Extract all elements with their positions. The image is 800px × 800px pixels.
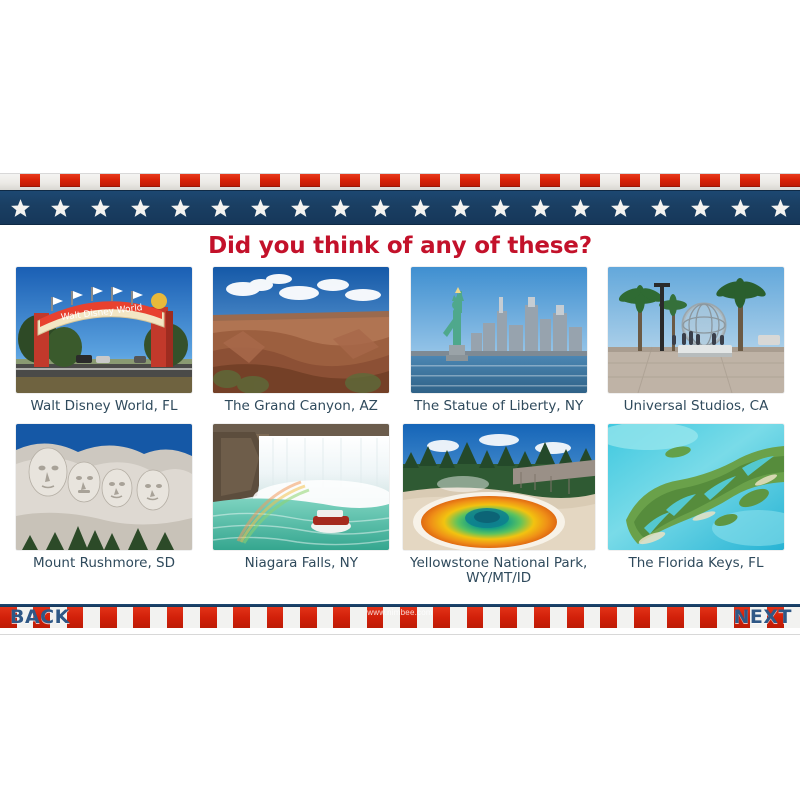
stripe-segment [620,174,640,187]
stripe-segment [780,174,800,187]
nav-stripe-segment [433,607,450,628]
stripe-segment [140,174,160,187]
stripe-segment [180,174,200,187]
star-icon [40,198,80,218]
stripe-segment [440,174,460,187]
stripe-segment [680,174,700,187]
caption-statue-of-liberty: The Statue of Liberty, NY [414,399,583,415]
nav-stripe-segment [650,607,667,628]
star-icon [120,198,160,218]
stripe-segment [40,174,60,187]
nav-stripe-segment [217,607,234,628]
nav-stripe-segment [467,607,484,628]
nav-stripe-segment [100,607,117,628]
next-button[interactable]: NEXT [732,606,795,628]
stripe-segment [600,174,620,187]
nav-stripe-segment [133,607,150,628]
stripe-segment [500,174,520,187]
nav-stripe-segment [550,607,567,628]
stripe-segment [100,174,120,187]
caption-universal-studios: Universal Studios, CA [624,399,769,415]
star-icon [160,198,200,218]
photo-mount-rushmore [16,424,192,550]
back-button[interactable]: BACK [8,606,72,628]
stripe-segment [760,174,780,187]
star-icon [200,198,240,218]
nav-stripe-segment [617,607,634,628]
nav-stripe-segment [517,607,534,628]
stripe-segment [720,174,740,187]
nav-stripe-segment [117,607,134,628]
nav-stripe-segment [450,607,467,628]
screenshot-canvas: Did you think of any of these? [0,0,800,800]
stripe-segment [280,174,300,187]
top-stripe-band [0,174,800,190]
nav-stripe-segment [267,607,284,628]
page-title: Did you think of any of these? [208,233,592,259]
caption-yellowstone: Yellowstone National Park, WY/MT/ID [410,556,587,587]
nav-stripe-segment [667,607,684,628]
star-icon [480,198,520,218]
star-icon [400,198,440,218]
nav-stripe-segment [250,607,267,628]
nav-stripe-segment [233,607,250,628]
stripe-segment [700,174,720,187]
star-icon [0,198,40,218]
star-icon [440,198,480,218]
star-icon [640,198,680,218]
nav-stripe-segment [567,607,584,628]
photo-yellowstone [403,424,595,550]
star-icon [80,198,120,218]
stripe-segment [380,174,400,187]
stripe-segment [640,174,660,187]
stripe-segment [560,174,580,187]
landmark-row-1: Walt Disney World [8,267,792,415]
nav-stripe-segment [200,607,217,628]
nav-stripe-segment [700,607,717,628]
stripe-segment [60,174,80,187]
nav-stripe-segment [400,607,417,628]
nav-stripe-segment [383,607,400,628]
stripe-segment [360,174,380,187]
caption-mount-rushmore: Mount Rushmore, SD [33,556,175,572]
nav-stripe-segment [300,607,317,628]
nav-stripe-segment [500,607,517,628]
nav-stripe-segment [83,607,100,628]
slide-nav: www.nimbee.com BACK NEXT [0,604,800,634]
star-icon [320,198,360,218]
star-icon [520,198,560,218]
landmark-card-statue-of-liberty[interactable]: The Statue of Liberty, NY [403,267,595,415]
stripe-segment [400,174,420,187]
nav-stripe-segment [317,607,334,628]
landmark-card-florida-keys[interactable]: The Florida Keys, FL [600,424,792,572]
star-icon [760,198,800,218]
nav-stripe-segment [417,607,434,628]
stripe-segment [540,174,560,187]
stripe-segment [420,174,440,187]
photo-niagara-falls [213,424,389,550]
photo-grand-canyon [213,267,389,393]
star-icon [600,198,640,218]
stripe-row [0,174,800,187]
nav-stripe-segment [684,607,701,628]
landmark-row-2: Mount Rushmore, SD [8,424,792,587]
nav-stripe-segment [183,607,200,628]
landmark-grid: Walt Disney World [0,267,800,587]
nav-stripe-segment [367,607,384,628]
stripe-segment [660,174,680,187]
stripe-segment [120,174,140,187]
photo-walt-disney-world: Walt Disney World [16,267,192,393]
stripe-segment [740,174,760,187]
stripe-segment [220,174,240,187]
caption-grand-canyon: The Grand Canyon, AZ [225,399,378,415]
caption-walt-disney-world: Walt Disney World, FL [31,399,178,415]
title-bar: Did you think of any of these? [0,225,800,267]
stripe-segment [320,174,340,187]
caption-florida-keys: The Florida Keys, FL [628,556,763,572]
slide-frame: Did you think of any of these? [0,174,800,634]
star-icon [720,198,760,218]
nav-stripe-segment [634,607,651,628]
stripe-segment [260,174,280,187]
star-icon [240,198,280,218]
star-icon [280,198,320,218]
stripe-segment [520,174,540,187]
photo-statue-of-liberty [411,267,587,393]
landmark-card-niagara-falls[interactable]: Niagara Falls, NY [205,424,397,572]
photo-florida-keys [608,424,784,550]
landmark-card-grand-canyon[interactable]: The Grand Canyon, AZ [205,267,397,415]
star-row [0,191,800,224]
nav-stripe-segment [483,607,500,628]
nav-stripe-segment [167,607,184,628]
nav-stripe-segment [600,607,617,628]
stripe-segment [480,174,500,187]
nav-bottom-pad [0,628,800,634]
photo-universal-studios [608,267,784,393]
landmark-card-yellowstone[interactable]: Yellowstone National Park, WY/MT/ID [403,424,595,587]
star-icon [360,198,400,218]
stripe-segment [460,174,480,187]
nav-stripe-segment [584,607,601,628]
landmark-card-walt-disney-world[interactable]: Walt Disney World [8,267,200,415]
stripe-segment [240,174,260,187]
nav-stripe-segment [150,607,167,628]
stripe-segment [300,174,320,187]
landmark-card-universal-studios[interactable]: Universal Studios, CA [600,267,792,415]
nav-stripe-segment [333,607,350,628]
nav-stripe-segment [283,607,300,628]
stripe-segment [160,174,180,187]
star-icon [560,198,600,218]
stripe-segment [80,174,100,187]
star-band [0,190,800,225]
stripe-segment [20,174,40,187]
stripe-segment [580,174,600,187]
nav-stripe-segment [350,607,367,628]
star-icon [680,198,720,218]
landmark-card-mount-rushmore[interactable]: Mount Rushmore, SD [8,424,200,572]
stripe-segment [340,174,360,187]
stripe-segment [0,174,20,187]
nav-stripe-segment [534,607,551,628]
nav-stripe-row [0,607,800,628]
caption-niagara-falls: Niagara Falls, NY [245,556,358,572]
stripe-segment [200,174,220,187]
